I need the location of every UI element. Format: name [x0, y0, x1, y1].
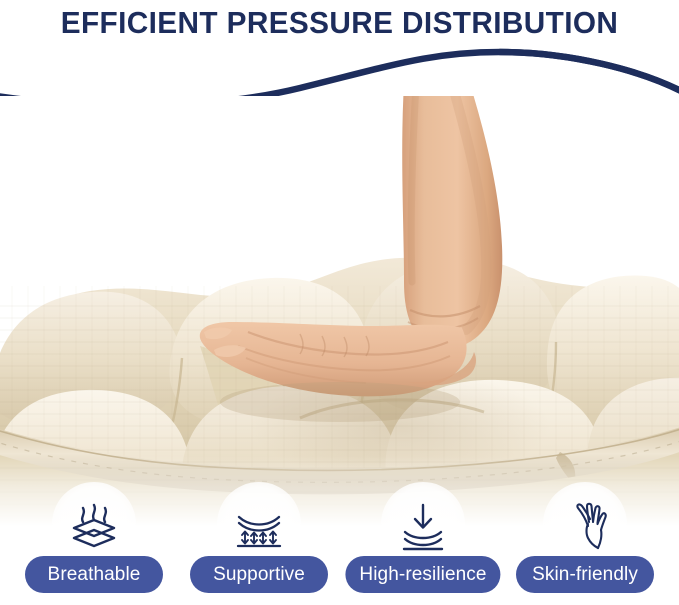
breathable-layers-icon	[67, 502, 121, 552]
product-feature-banner: EFFICIENT PRESSURE DISTRIBUTION	[0, 0, 679, 605]
badge-label-skin-friendly[interactable]: Skin-friendly	[516, 556, 654, 593]
feature-skin-friendly[interactable]: Skin-friendly	[505, 496, 665, 605]
badge-label-supportive[interactable]: Supportive	[190, 556, 328, 593]
high-resilience-down-arrow-icon	[396, 502, 450, 552]
page-title: EFFICIENT PRESSURE DISTRIBUTION	[14, 0, 666, 46]
cushion-photo	[0, 96, 679, 526]
feature-supportive[interactable]: Supportive	[179, 496, 339, 605]
skin-friendly-hand-icon	[558, 502, 612, 552]
feature-breathable[interactable]: Breathable	[14, 496, 174, 605]
feature-high-resilience[interactable]: High-resilience	[343, 496, 503, 605]
supportive-arrows-icon	[232, 502, 286, 552]
badge-label-breathable[interactable]: Breathable	[25, 556, 163, 593]
badge-label-high-resilience[interactable]: High-resilience	[345, 556, 500, 593]
feature-badges: Breathable	[0, 496, 679, 605]
cushion-illustration	[0, 96, 679, 526]
